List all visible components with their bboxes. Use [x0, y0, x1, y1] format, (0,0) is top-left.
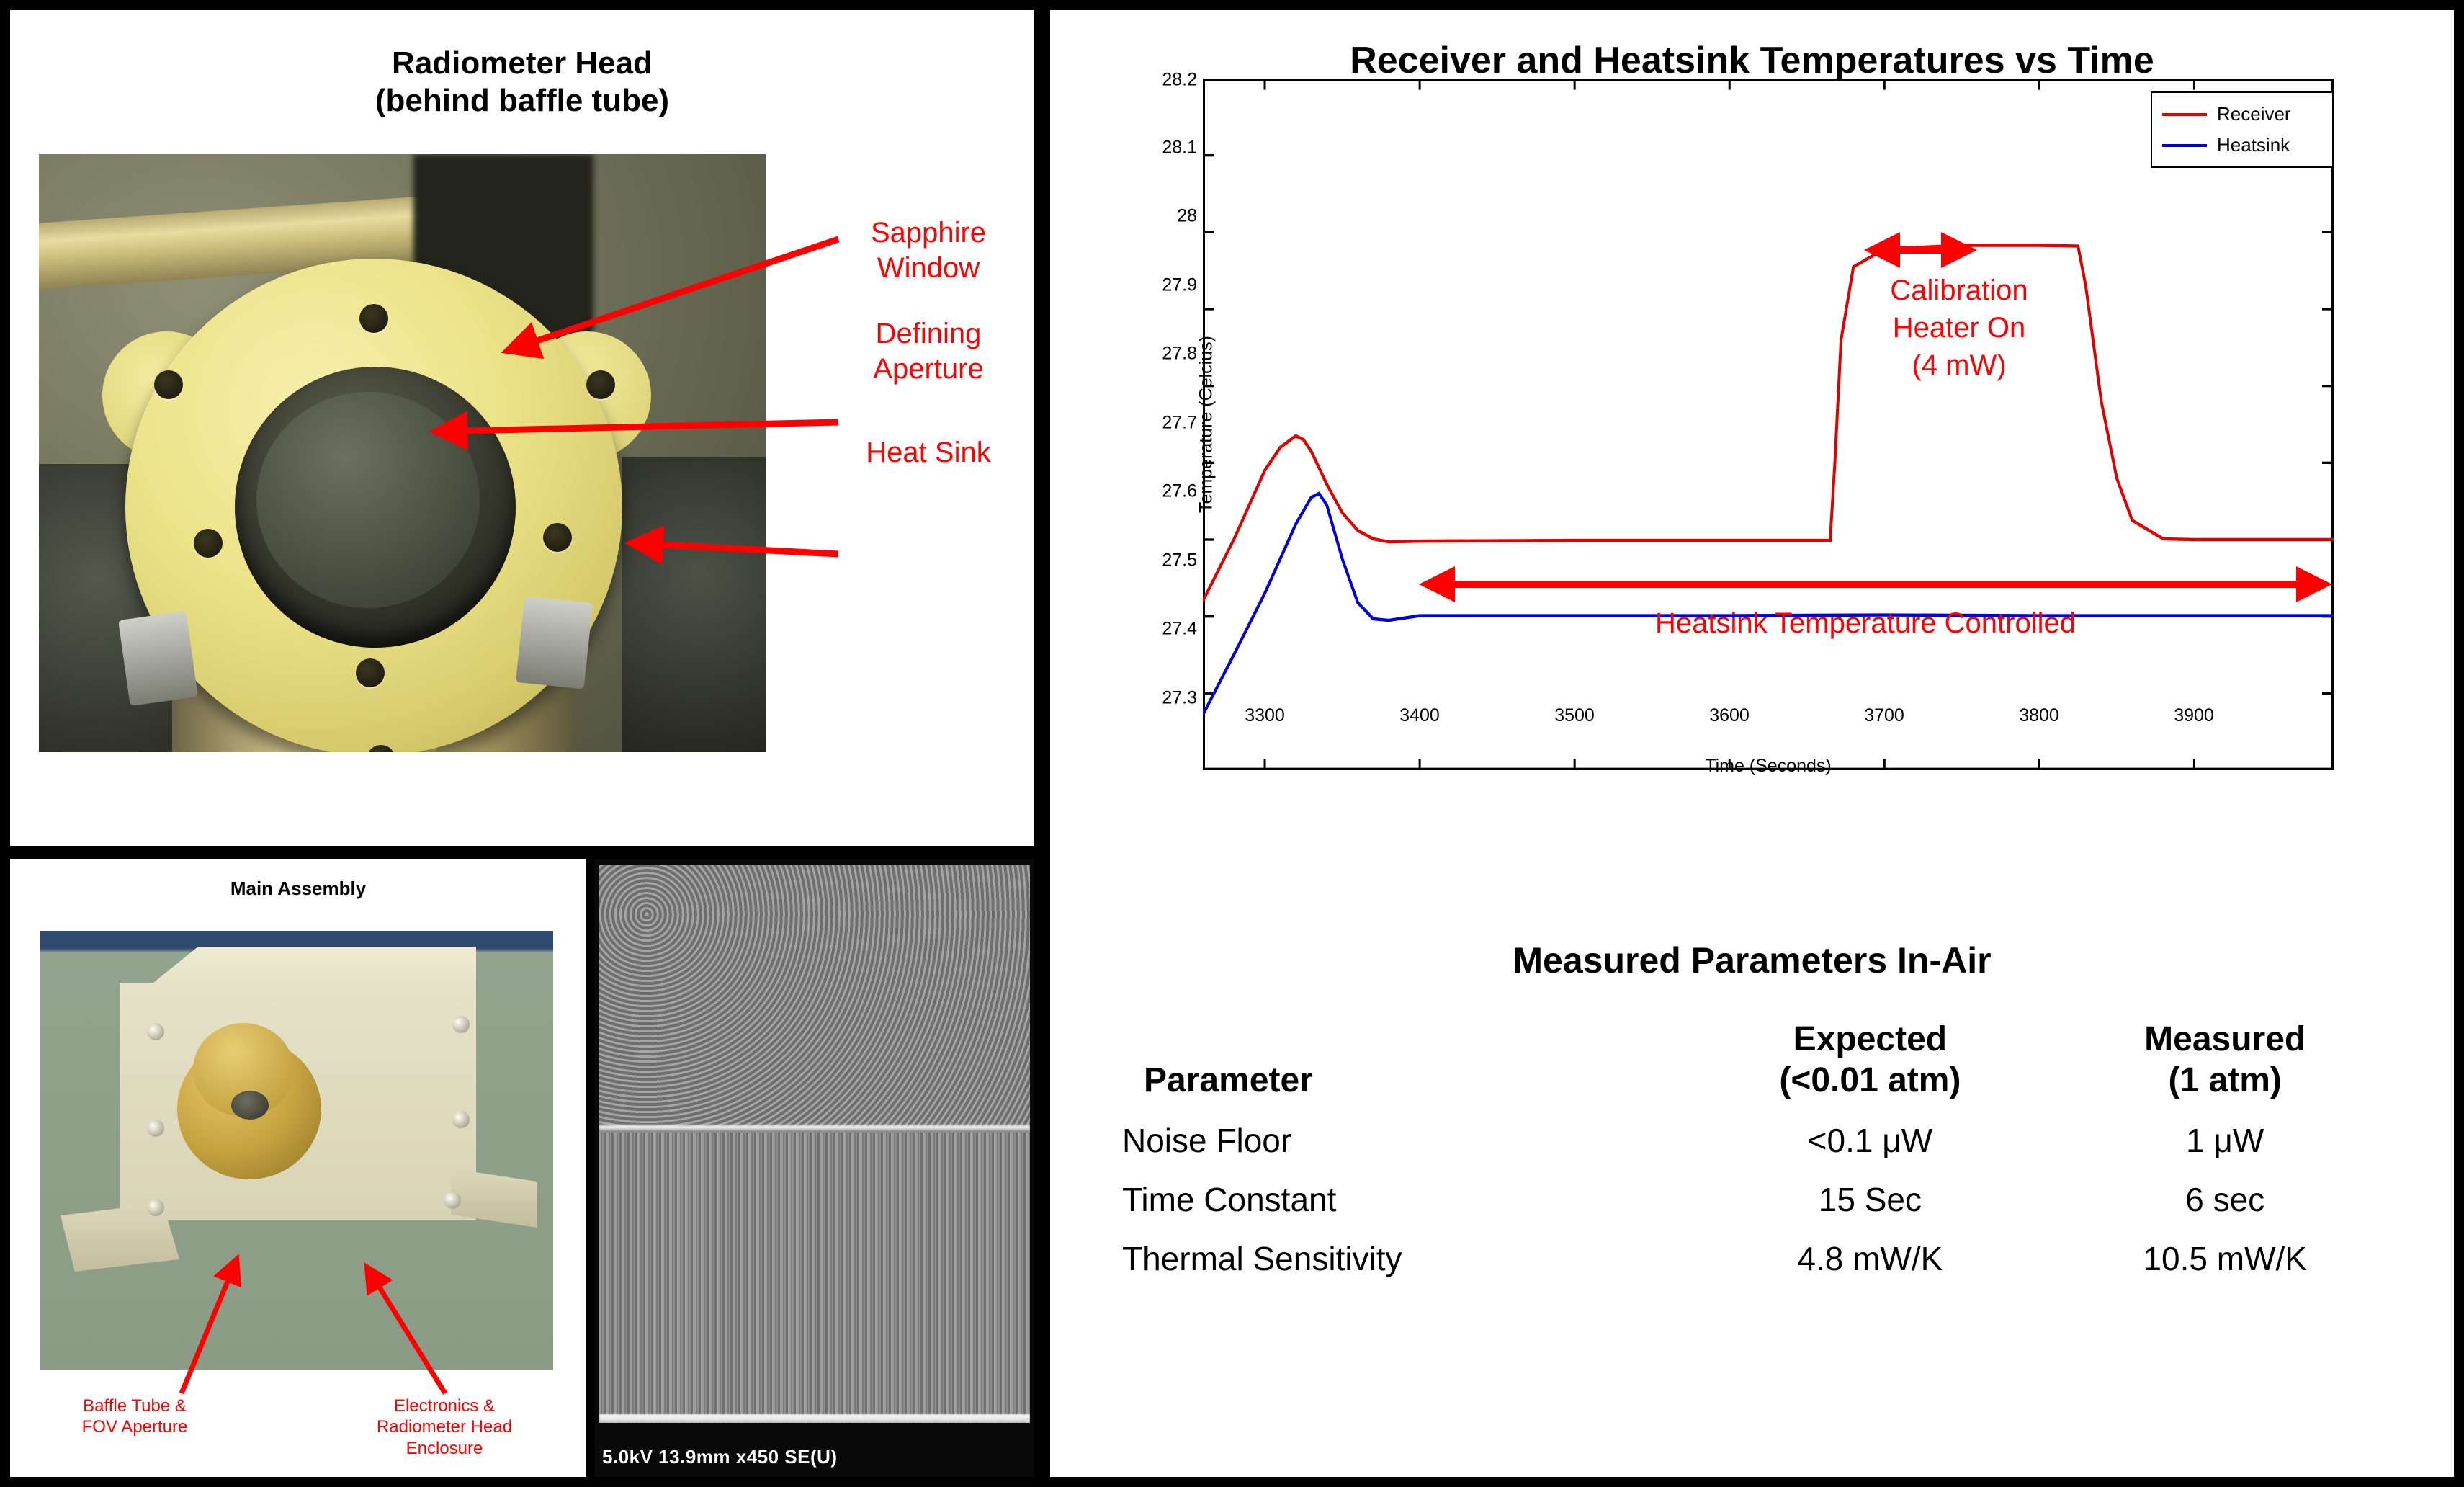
cell-measured: 1 μW — [2060, 1111, 2390, 1170]
bolt-hole-upper-left — [154, 370, 183, 399]
label-defining-aperture: Defining Aperture — [831, 316, 1026, 387]
data-curves — [1203, 246, 2334, 715]
sem-bright-interface — [599, 1124, 1030, 1130]
head-title-line1: Radiometer Head — [10, 45, 1034, 82]
fov-aperture-opening — [231, 1091, 269, 1120]
bolt-hole-upper-right — [586, 370, 615, 399]
bolt-hole-left — [194, 529, 223, 558]
table-header-row: Parameter Expected (<0.01 atm) Measured … — [1122, 1019, 2390, 1111]
cell-expected: 4.8 mW/K — [1680, 1229, 2060, 1288]
label-baffle-tube-l1: Baffle Tube & — [30, 1396, 239, 1416]
y-tick-27.8: 27.8 — [1162, 344, 1197, 365]
y-tick-28.1: 28.1 — [1162, 138, 1197, 158]
legend-item-heatsink: Heatsink — [2152, 130, 2332, 161]
header-expected-l1: Expected — [1680, 1019, 2059, 1060]
label-electronics-l2: Radiometer Head — [326, 1416, 563, 1437]
header-measured: Measured (1 atm) — [2060, 1019, 2390, 1111]
series-receiver — [1203, 246, 2334, 602]
heatsink-clip-left — [118, 611, 198, 706]
label-baffle-tube-l2: FOV Aperture — [30, 1416, 239, 1437]
header-measured-l1: Measured — [2061, 1019, 2389, 1060]
main-assembly-title: Main Assembly — [10, 878, 586, 900]
screw-5 — [452, 1111, 470, 1128]
y-tick-27.6: 27.6 — [1162, 481, 1197, 502]
sem-nanotube-forest — [599, 1133, 1030, 1423]
cell-measured: 6 sec — [2060, 1170, 2390, 1229]
y-tick-27.4: 27.4 — [1162, 619, 1197, 640]
label-sapphire-window-l1: Sapphire — [831, 215, 1026, 251]
table-row: Time Constant15 Sec6 sec — [1122, 1170, 2390, 1229]
annotation-calibration-heater: Calibration Heater On (4 mW) — [1851, 272, 2067, 384]
screw-6 — [444, 1192, 461, 1209]
screw-3 — [147, 1199, 164, 1216]
chart-title: Receiver and Heatsink Temperatures vs Ti… — [1050, 39, 2454, 82]
temperature-chart: Temperature (Celcius) Time (Seconds) 27.… — [1203, 79, 2334, 770]
annotation-heater-l3: (4 mW) — [1851, 347, 2067, 384]
head-title-line2: (behind baffle tube) — [10, 82, 1034, 120]
background-block-right — [622, 457, 766, 752]
results-panel: Receiver and Heatsink Temperatures vs Ti… — [1050, 10, 2454, 1477]
y-tick-28.2: 28.2 — [1162, 70, 1197, 91]
slide-root: Radiometer Head (behind baffle tube) — [0, 0, 2464, 1487]
sem-micrograph — [599, 865, 1030, 1423]
bolt-hole-top — [359, 304, 388, 333]
main-assembly-photo — [40, 931, 553, 1370]
radiometer-head-title: Radiometer Head (behind baffle tube) — [10, 45, 1034, 120]
label-electronics: Electronics & Radiometer Head Enclosure — [326, 1396, 563, 1459]
legend-item-receiver: Receiver — [2152, 99, 2332, 130]
header-parameter: Parameter — [1122, 1019, 1680, 1111]
label-defining-aperture-l2: Aperture — [831, 352, 1026, 387]
plot-area — [1203, 79, 2334, 770]
cell-parameter: Thermal Sensitivity — [1122, 1229, 1680, 1288]
legend-swatch-heatsink — [2162, 144, 2207, 147]
label-heat-sink: Heat Sink — [831, 435, 1026, 470]
bolt-hole-right — [543, 523, 572, 552]
label-baffle-tube: Baffle Tube & FOV Aperture — [30, 1396, 239, 1438]
label-electronics-l1: Electronics & — [326, 1396, 563, 1416]
legend-swatch-receiver — [2162, 113, 2207, 116]
heatsink-clip-right — [516, 596, 593, 689]
legend-label-heatsink: Heatsink — [2217, 134, 2290, 156]
screw-1 — [147, 1023, 164, 1040]
cell-expected: 15 Sec — [1680, 1170, 2060, 1229]
label-electronics-l3: Enclosure — [326, 1438, 563, 1459]
annotation-heater-l2: Heater On — [1851, 309, 2067, 347]
plot-frame — [1204, 79, 2333, 769]
label-defining-aperture-l1: Defining — [831, 316, 1026, 352]
bolt-hole-lower — [356, 658, 385, 687]
sem-granular-region — [599, 865, 1030, 1127]
screw-2 — [147, 1120, 164, 1137]
y-tick-28: 28 — [1177, 206, 1197, 227]
cell-parameter: Time Constant — [1122, 1170, 1680, 1229]
annotation-heatsink-controlled: Heatsink Temperature Controlled — [1433, 604, 2298, 642]
legend-label-receiver: Receiver — [2217, 103, 2291, 125]
y-tick-27.9: 27.9 — [1162, 275, 1197, 296]
radiometer-head-panel: Radiometer Head (behind baffle tube) — [10, 10, 1034, 846]
cell-measured: 10.5 mW/K — [2060, 1229, 2390, 1288]
cell-parameter: Noise Floor — [1122, 1111, 1680, 1170]
header-expected-l2: (<0.01 atm) — [1680, 1060, 2059, 1102]
table-row: Noise Floor<0.1 μW1 μW — [1122, 1111, 2390, 1170]
screw-4 — [452, 1016, 470, 1033]
radiometer-head-photo — [39, 154, 766, 752]
header-measured-l2: (1 atm) — [2061, 1060, 2389, 1102]
cell-expected: <0.1 μW — [1680, 1111, 2060, 1170]
chart-legend: Receiver Heatsink — [2151, 91, 2334, 168]
sem-caption: 5.0kV 13.9mm x450 SE(U) — [602, 1446, 838, 1468]
table-row: Thermal Sensitivity4.8 mW/K10.5 mW/K — [1122, 1229, 2390, 1288]
parameters-table: Parameter Expected (<0.01 atm) Measured … — [1122, 1019, 2390, 1288]
y-tick-27.3: 27.3 — [1162, 688, 1197, 709]
axis-ticks — [1203, 79, 2334, 770]
table-body: Noise Floor<0.1 μW1 μWTime Constant15 Se… — [1122, 1111, 2390, 1288]
sem-panel: 5.0kV 13.9mm x450 SE(U) — [595, 859, 1034, 1477]
table-title: Measured Parameters In-Air — [1050, 939, 2454, 981]
y-tick-27.5: 27.5 — [1162, 550, 1197, 571]
main-assembly-panel: Main Assembly Baffle Tube & FOV Aperture — [10, 859, 586, 1477]
label-sapphire-window: Sapphire Window — [831, 215, 1026, 286]
sem-substrate-edge — [599, 1414, 1030, 1423]
sapphire-window-surface — [256, 392, 480, 608]
label-heat-sink-l1: Heat Sink — [831, 435, 1026, 470]
header-expected: Expected (<0.01 atm) — [1680, 1019, 2060, 1111]
y-tick-27.7: 27.7 — [1162, 413, 1197, 434]
label-sapphire-window-l2: Window — [831, 251, 1026, 286]
annotation-heater-l1: Calibration — [1851, 272, 2067, 309]
